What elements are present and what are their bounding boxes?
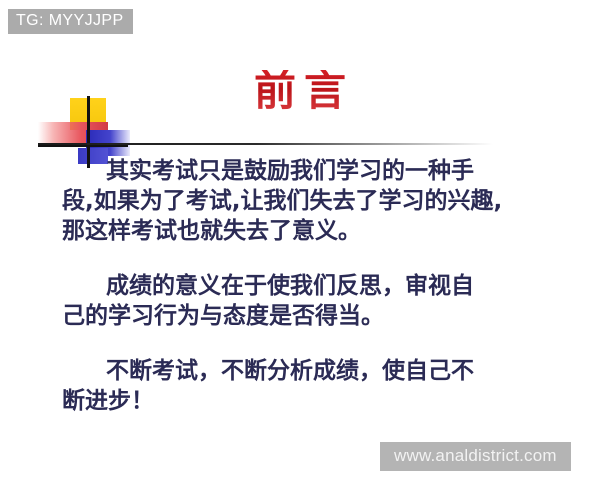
paragraph-1-line-1: 其实考试只是鼓励我们学习的一种手 — [62, 156, 532, 186]
slide-body-text: 其实考试只是鼓励我们学习的一种手 段,如果为了考试,让我们失去了学习的兴趣, 那… — [62, 156, 532, 416]
presentation-slide: TG: MYYJJPP 前言 其实考试只是鼓励我们学习的一种手 段,如果为了考试… — [0, 0, 600, 480]
paragraph-1-line-3: 那这样考试也就失去了意义。 — [62, 216, 532, 246]
paragraph-2-line-2: 己的学习行为与态度是否得当。 — [62, 301, 532, 331]
paragraph-3-line-2: 断进步！ — [62, 386, 532, 416]
paragraph-2: 成绩的意义在于使我们反思，审视自 己的学习行为与态度是否得当。 — [62, 271, 532, 331]
paragraph-2-line-1: 成绩的意义在于使我们反思，审视自 — [62, 271, 532, 301]
paragraph-1: 其实考试只是鼓励我们学习的一种手 段,如果为了考试,让我们失去了学习的兴趣, 那… — [62, 156, 532, 246]
paragraph-3: 不断考试，不断分析成绩，使自己不 断进步！ — [62, 356, 532, 416]
telegram-watermark-badge: TG: MYYJJPP — [8, 9, 133, 34]
site-watermark-badge: www.analdistrict.com — [380, 442, 571, 471]
title-underline-rule — [38, 143, 493, 145]
paragraph-3-line-1: 不断考试，不断分析成绩，使自己不 — [62, 356, 532, 386]
paragraph-1-line-2: 段,如果为了考试,让我们失去了学习的兴趣, — [62, 186, 532, 216]
